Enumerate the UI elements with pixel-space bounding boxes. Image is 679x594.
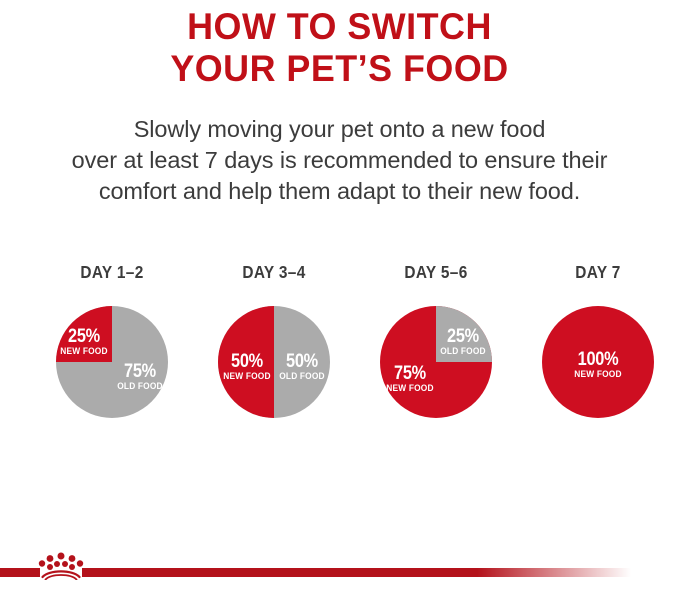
pie-slice-new-food [542,306,654,418]
pie-svg-3 [380,306,492,418]
pie-slice-old-food [436,306,492,362]
day-label-4: DAY 7 [527,262,670,283]
royal-canin-crown-icon [38,550,84,580]
title-line-1: HOW TO SWITCH [10,6,669,48]
subtitle-paragraph: Slowly moving your pet onto a new food o… [0,114,679,207]
pie-graphic-2: 50% NEW FOOD 50% OLD FOOD [218,306,330,418]
pie-svg-2 [218,306,330,418]
footer-rule-left [0,568,40,577]
pie-graphic-1: 25% NEW FOOD 75% OLD FOOD [56,306,168,418]
title-line-2: YOUR PET’S FOOD [10,48,669,90]
pie-chart-day-7: DAY 7 100% NEW FOOD [517,262,679,432]
pie-slice-new-food [56,306,112,362]
pie-slice-new-food [218,306,274,418]
subtitle-line-2: over at least 7 days is recommended to e… [0,145,679,176]
pie-graphic-3: 25% OLD FOOD 75% NEW FOOD [380,306,492,418]
pie-graphic-4: 100% NEW FOOD [542,306,654,418]
day-label-2: DAY 3–4 [203,262,346,283]
footer-rule-right [82,568,631,577]
page-title: HOW TO SWITCH YOUR PET’S FOOD [0,6,679,90]
pie-chart-day-1-2: DAY 1–2 25% NEW FOOD 75% OLD FOOD [31,262,193,432]
pie-svg-1 [56,306,168,418]
subtitle-line-3: comfort and help them adapt to their new… [0,176,679,207]
pie-chart-row: DAY 1–2 25% NEW FOOD 75% OLD FOOD DAY 3–… [0,262,679,432]
crown-svg [38,550,84,580]
footer-bar [0,540,679,594]
infographic-page: HOW TO SWITCH YOUR PET’S FOOD Slowly mov… [0,0,679,594]
pie-chart-day-3-4: DAY 3–4 50% NEW FOOD 50% OLD FOOD [193,262,355,432]
pie-chart-day-5-6: DAY 5–6 25% OLD FOOD 75% NEW FOOD [355,262,517,432]
pie-svg-4 [542,306,654,418]
day-label-1: DAY 1–2 [41,262,184,283]
day-label-3: DAY 5–6 [365,262,508,283]
subtitle-line-1: Slowly moving your pet onto a new food [0,114,679,145]
